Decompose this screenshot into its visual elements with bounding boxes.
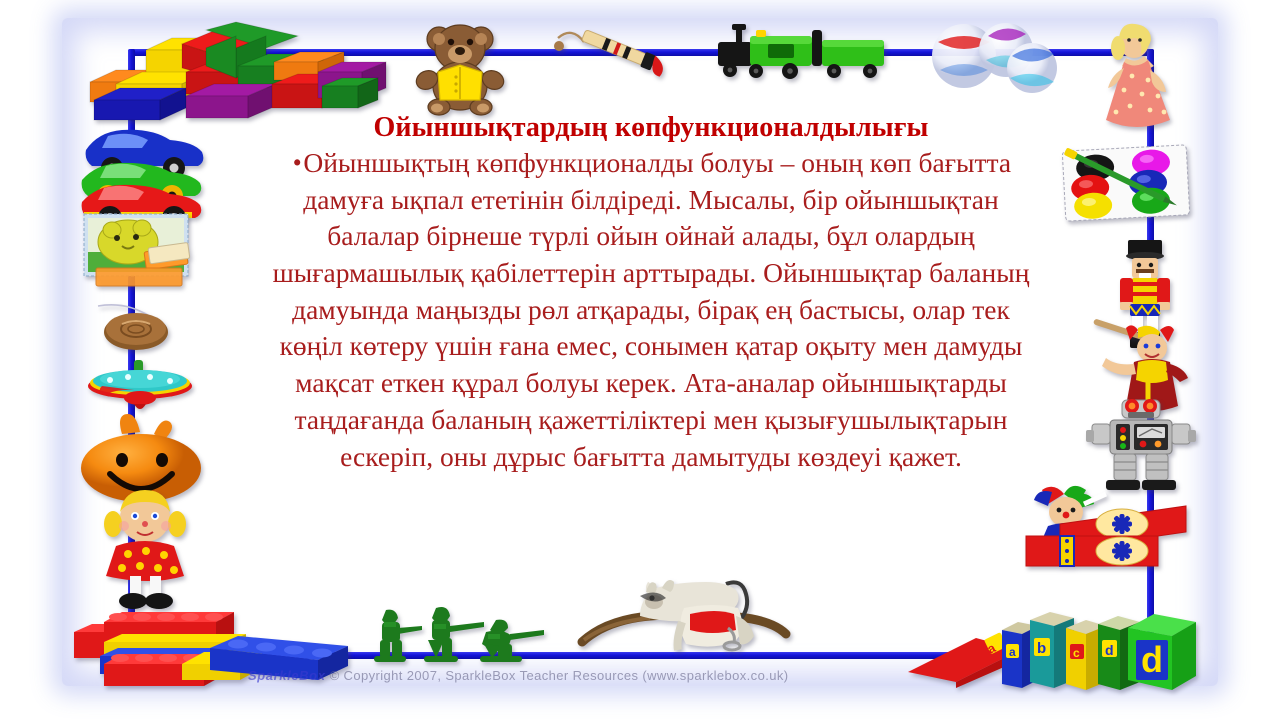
- picture-book-icon: [82, 212, 198, 292]
- text-block: Ойыншықтардың көпфункционалдылығы •Ойынш…: [258, 112, 1044, 475]
- spinning-top-icon: [82, 360, 200, 420]
- jester-puppet-icon: [1090, 324, 1196, 412]
- beach-balls-icon: [930, 20, 1058, 96]
- yo-yo-icon: [92, 302, 178, 354]
- svg-text:d: d: [1141, 639, 1163, 680]
- body-paragraph: •Ойыншықтың көпфункционалды болуы – оның…: [258, 145, 1044, 475]
- copyright-strip: SparkleBox © Copyright 2007, SparkleBox …: [248, 668, 788, 683]
- teddy-bear-icon: [412, 20, 508, 114]
- page-title: Ойыншықтардың көпфункционалдылығы: [258, 112, 1044, 144]
- copyright-text: © Copyright 2007, SparkleBox Teacher Res…: [330, 668, 789, 683]
- svg-text:a: a: [1009, 645, 1016, 659]
- jack-in-the-box-icon: [1026, 484, 1186, 568]
- toy-robot-icon: [1082, 400, 1200, 494]
- sparklebox-logo: SparkleBox: [248, 668, 326, 683]
- rocking-horse-icon: [578, 578, 790, 674]
- bullet-marker: •: [291, 151, 303, 175]
- alphabet-books-icon: a a b c: [906, 592, 1196, 690]
- paint-palette-icon: [1058, 140, 1194, 226]
- body-text: Ойыншықтың көпфункционалды болуы – оның …: [273, 147, 1030, 472]
- toy-cars-icon: [78, 118, 214, 222]
- svg-text:c: c: [1073, 646, 1080, 660]
- svg-text:d: d: [1105, 642, 1114, 658]
- toy-train-icon: [712, 24, 890, 82]
- toy-soldiers-icon: [372, 606, 572, 668]
- slide-canvas: a a b c: [0, 0, 1280, 720]
- rag-doll-icon: [96, 492, 194, 610]
- paintbrush-icon: [540, 28, 670, 84]
- svg-text:b: b: [1037, 640, 1046, 657]
- smiley-face-icon: [78, 412, 204, 504]
- princess-doll-icon: [1086, 24, 1198, 136]
